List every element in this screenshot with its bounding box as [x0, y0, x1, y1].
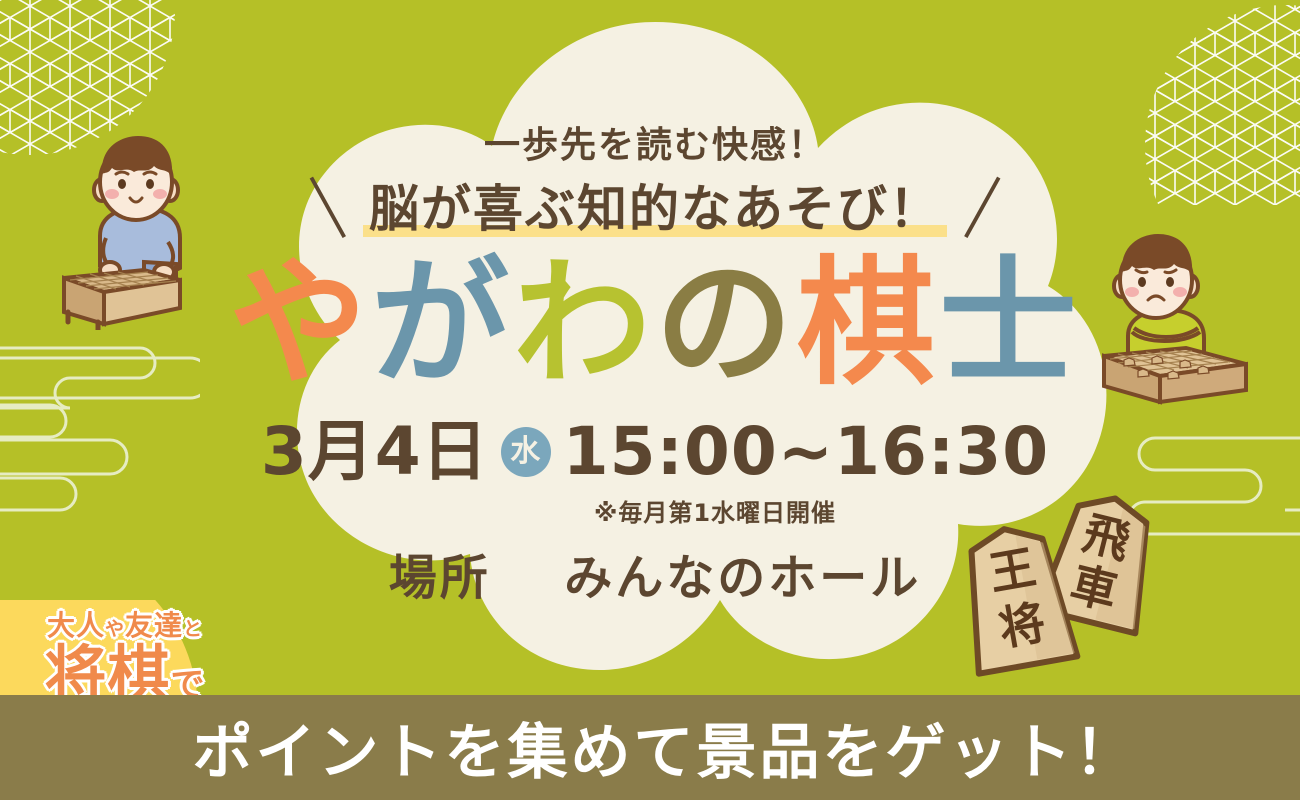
title-char-5: 棋 [797, 255, 939, 393]
event-time: 15:00~16:30 [563, 419, 1049, 485]
weekday-badge: 水 [501, 427, 551, 477]
title-char-4: の [655, 255, 797, 393]
slash-left-decoration: ＼ [295, 177, 359, 241]
svg-text:王: 王 [985, 540, 1040, 601]
recurrence-note: ※毎月第1水曜日開催 [594, 493, 836, 528]
boy-with-shogi-board-left-illustration [48, 130, 233, 330]
bubble-line1-d: と [183, 618, 203, 640]
osho-piece: 王 将 [955, 520, 1077, 673]
banner-text: ポイントを集めて景品をゲット！ [193, 704, 1138, 791]
slash-right-decoration: ／ [951, 177, 1015, 241]
event-poster: 一歩先を読む快感！ ＼ 脳が喜ぶ知的なあそび！ ／ や が わ の 棋 士 3月… [0, 0, 1300, 800]
svg-text:将: 将 [995, 595, 1050, 656]
kasumi-cloud-pattern-left-lower-icon [0, 430, 200, 550]
venue-label: 場所 [389, 550, 491, 606]
boy-thinking-right-illustration [1088, 232, 1288, 427]
poster-main-title: や が わ の 棋 士 [229, 255, 1081, 393]
event-datetime: 3月4日 水 15:00~16:30 [261, 419, 1049, 485]
kasumi-cloud-pattern-left-upper-icon [0, 330, 200, 450]
shogi-pieces-illustration: 飛 車 王 将 [955, 490, 1170, 680]
event-date: 3月4日 [261, 419, 489, 485]
bubble-line-1: 大人や友達と [10, 612, 240, 640]
lead-catchphrase: 一歩先を読む快感！ [484, 116, 826, 168]
venue-name: みんなのホール [564, 550, 921, 606]
title-char-6: 士 [939, 255, 1081, 393]
bottom-banner: ポイントを集めて景品をゲット！ [0, 695, 1300, 800]
sub-catchphrase: 脳が喜ぶ知的なあそび！ [363, 182, 947, 237]
bubble-line1-b: や [105, 618, 125, 640]
title-char-2: が [371, 255, 513, 393]
title-char-1: や [229, 255, 371, 393]
asanoha-pattern-top-right-icon [1135, 0, 1300, 205]
title-char-3: わ [513, 255, 655, 393]
sub-catchphrase-row: ＼ 脳が喜ぶ知的なあそび！ ／ [301, 182, 1009, 237]
event-venue: 場所 みんなのホール [389, 538, 921, 608]
